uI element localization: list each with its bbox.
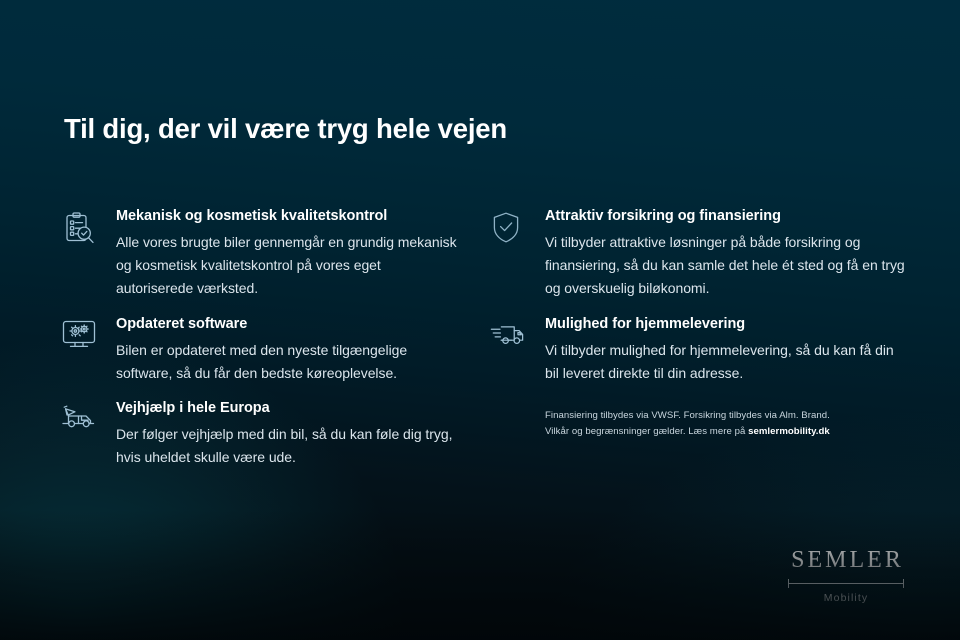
feature-body: Bilen er opdateret med den nyeste tilgæn… [116,339,460,385]
fineprint-line-2: Vilkår og begrænsninger gælder. Læs mere… [545,424,905,440]
feature-text: Attraktiv forsikring og finansiering Vi … [545,208,909,300]
feature-heading: Vejhjælp i hele Europa [116,400,460,416]
clipboard-magnifier-icon [60,208,100,248]
feature-item-quality-control: Mekanisk og kosmetisk kvalitetskontrol A… [60,208,460,300]
feature-body: Vi tilbyder attraktive løsninger på både… [545,231,909,300]
semler-mobility-logo: SEMLER Mobility [788,548,904,604]
logo-rule-line [788,583,904,584]
logo-wordmark: SEMLER [788,548,904,572]
feature-item-insurance-financing: Attraktiv forsikring og finansiering Vi … [489,208,909,300]
feature-heading: Attraktiv forsikring og finansiering [545,208,909,224]
feature-body: Der følger vejhjælp med din bil, så du k… [116,423,460,469]
feature-text: Mekanisk og kosmetisk kvalitetskontrol A… [116,208,460,300]
delivery-truck-icon [489,316,529,350]
feature-item-software: Opdateret software Bilen er opdateret me… [60,316,460,385]
logo-tagline: Mobility [788,592,904,604]
logo-rule-cap-left [788,579,789,588]
feature-text: Opdateret software Bilen er opdateret me… [116,316,460,385]
slide-canvas: Til dig, der vil være tryg hele vejen [0,0,960,640]
logo-divider-rule [788,579,904,588]
feature-item-roadside-assistance: Vejhjælp i hele Europa Der følger vejhjæ… [60,400,460,469]
feature-text: Vejhjælp i hele Europa Der følger vejhjæ… [116,400,460,469]
fineprint-line-2-prefix: Vilkår og begrænsninger gælder. Læs mere… [545,426,748,437]
fineprint-link[interactable]: semlermobility.dk [748,426,830,437]
feature-heading: Opdateret software [116,316,460,332]
shield-check-icon [489,208,529,246]
features-grid: Mekanisk og kosmetisk kvalitetskontrol A… [0,0,960,640]
feature-body: Vi tilbyder mulighed for hjemmelevering,… [545,339,909,385]
feature-item-home-delivery: Mulighed for hjemmelevering Vi tilbyder … [489,316,909,385]
feature-heading: Mulighed for hjemmelevering [545,316,909,332]
feature-body: Alle vores brugte biler gennemgår en gru… [116,231,460,300]
feature-text: Mulighed for hjemmelevering Vi tilbyder … [545,316,909,385]
legal-fineprint: Finansiering tilbydes via VWSF. Forsikri… [545,408,905,439]
fineprint-line-1: Finansiering tilbydes via VWSF. Forsikri… [545,408,905,424]
feature-heading: Mekanisk og kosmetisk kvalitetskontrol [116,208,460,224]
logo-rule-cap-right [903,579,904,588]
monitor-gears-icon [60,316,100,352]
tow-truck-icon [60,400,100,434]
